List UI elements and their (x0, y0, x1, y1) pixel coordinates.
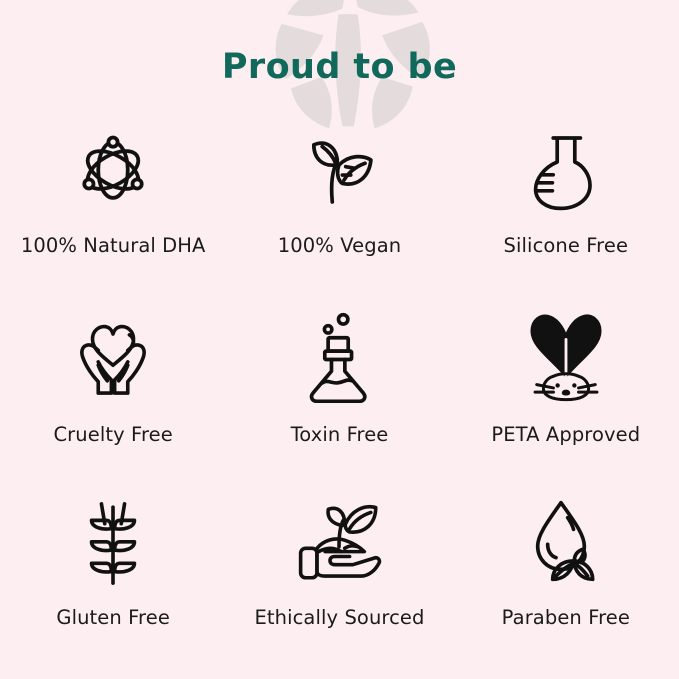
badge-gluten-free: Gluten Free (0, 492, 226, 629)
round-flask-icon (526, 122, 606, 218)
badge-peta-approved: PETA Approved (453, 307, 679, 446)
badge-100-vegan: 100% Vegan (226, 122, 452, 257)
sprout-leaves-icon (297, 122, 381, 218)
badge-label: Cruelty Free (53, 423, 172, 446)
badge-paraben-free: Paraben Free (453, 492, 679, 629)
badge-label: Gluten Free (56, 606, 170, 629)
hand-holding-soil-sprout-icon (294, 492, 384, 590)
badge-cruelty-free: Cruelty Free (0, 307, 226, 446)
badge-label: Paraben Free (502, 606, 630, 629)
hands-holding-heart-icon (70, 307, 156, 407)
badge-grid: 100% Natural DHA 100% Vegan (0, 122, 679, 677)
badge-label: 100% Vegan (278, 234, 401, 257)
badge-label: 100% Natural DHA (21, 234, 206, 257)
peta-bunny-heart-icon (520, 307, 612, 407)
badge-label: Silicone Free (504, 234, 629, 257)
badge-label: Toxin Free (291, 423, 389, 446)
page-title: Proud to be (0, 44, 679, 90)
badge-ethically-sourced: Ethically Sourced (226, 492, 452, 629)
proud-to-be-badge-panel: Proud to be 100% Natural DHA (0, 0, 679, 679)
badge-label: PETA Approved (491, 423, 640, 446)
atom-icon (72, 122, 154, 218)
badge-100-natural-dha: 100% Natural DHA (0, 122, 226, 257)
badge-silicone-free: Silicone Free (453, 122, 679, 257)
badge-label: Ethically Sourced (254, 606, 424, 629)
wheat-stalk-icon (80, 492, 146, 590)
corked-flask-bubbles-icon (303, 307, 375, 407)
water-drop-leaves-icon (526, 492, 606, 590)
badge-toxin-free: Toxin Free (226, 307, 452, 446)
